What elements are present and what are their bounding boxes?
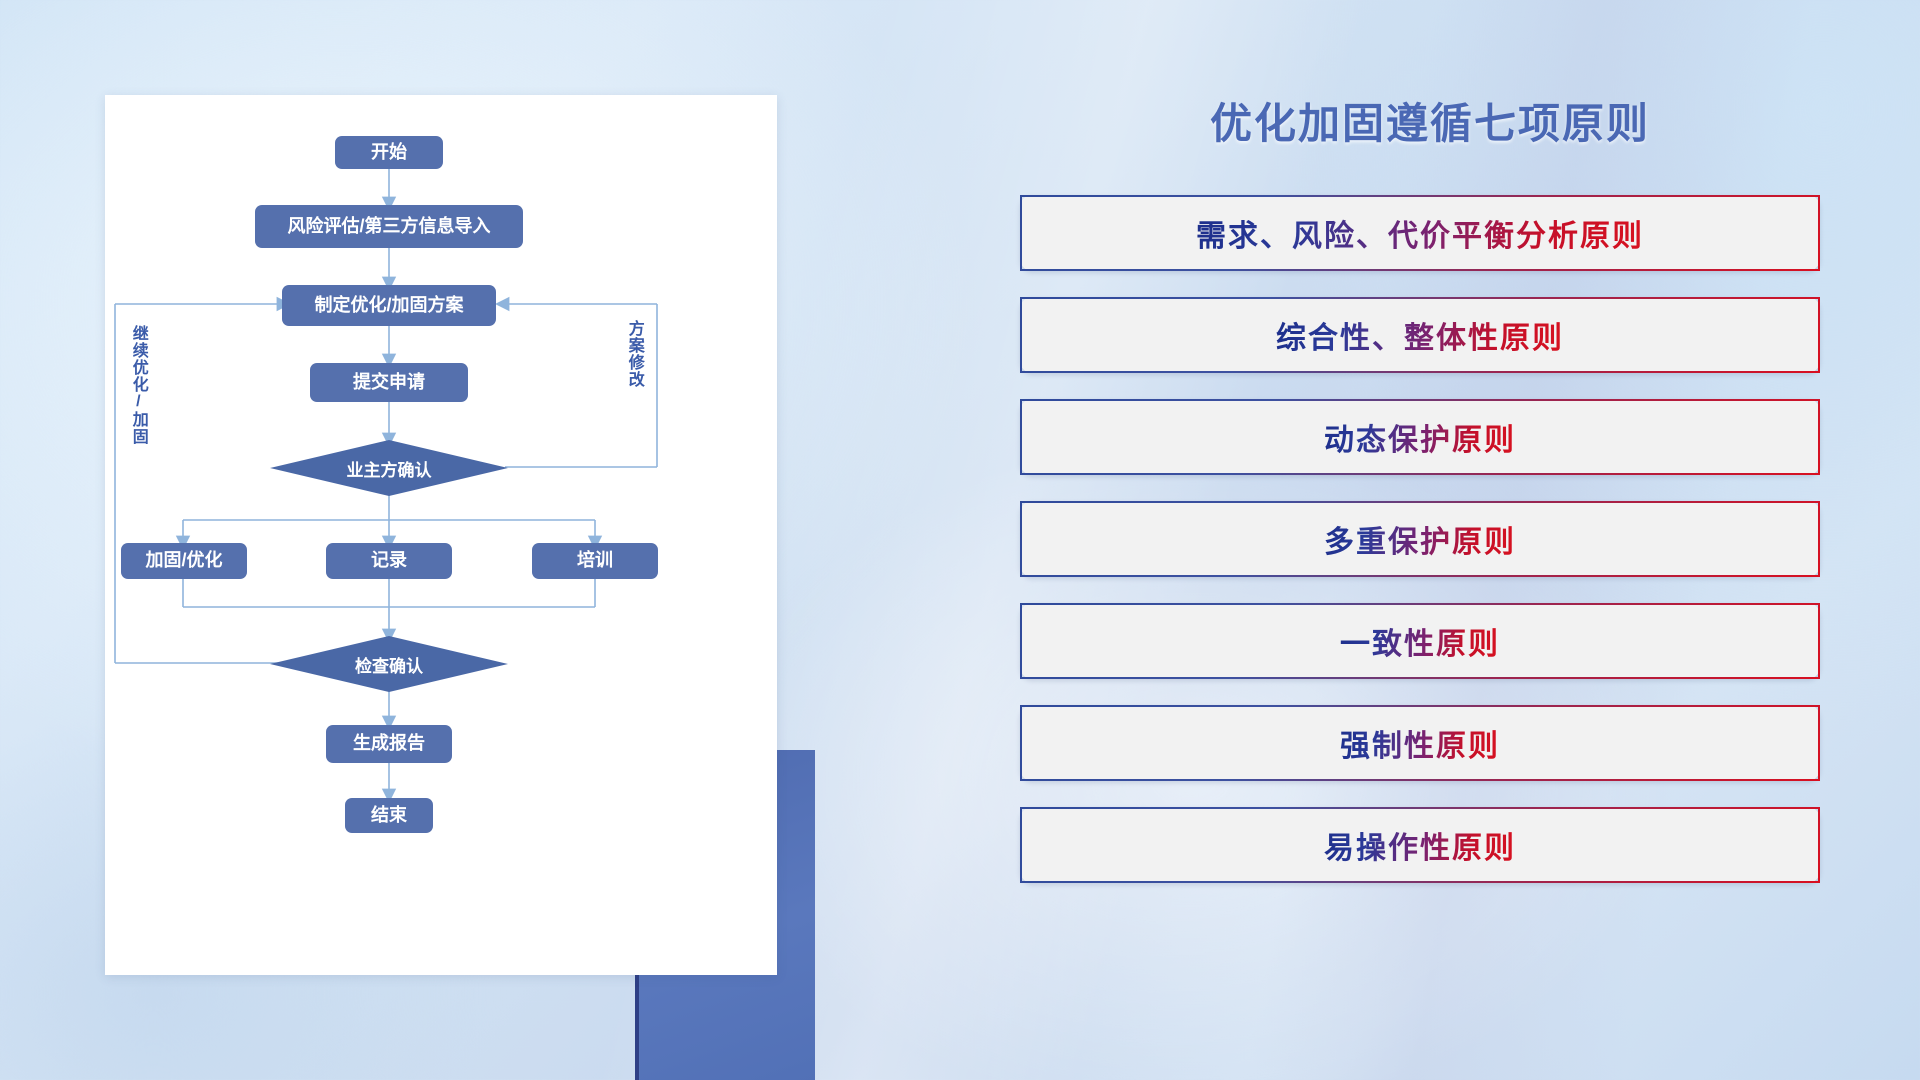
principles-panel: 优化加固遵循七项原则 需求、风险、代价平衡分析原则 综合性、整体性原则 动态保护…	[1020, 90, 1840, 1030]
edge-label-left-loop: 继续优化/加固	[129, 325, 146, 445]
principle-list: 需求、风险、代价平衡分析原则 综合性、整体性原则 动态保护原则 多重保护原则 一…	[1020, 195, 1820, 909]
flow-node-submit-application[interactable]: 提交申请	[310, 363, 468, 402]
principle-card[interactable]: 动态保护原则	[1020, 399, 1820, 475]
principle-card[interactable]: 易操作性原则	[1020, 807, 1820, 883]
principle-card[interactable]: 强制性原则	[1020, 705, 1820, 781]
flow-node-check-confirm-label: 检查确认	[355, 652, 423, 677]
principle-label: 综合性、整体性原则	[1276, 313, 1564, 357]
principle-label: 动态保护原则	[1324, 415, 1516, 459]
flowchart-card: 继续优化/加固 方案修改 开始 风险评估/第三方信息导入 制定优化/加固方案 提…	[105, 95, 777, 975]
page-title: 优化加固遵循七项原则	[1020, 90, 1840, 151]
principle-label: 一致性原则	[1340, 619, 1500, 663]
flow-node-owner-confirm[interactable]: 业主方确认	[270, 440, 508, 496]
flowchart-panel: 继续优化/加固 方案修改 开始 风险评估/第三方信息导入 制定优化/加固方案 提…	[105, 95, 785, 970]
flow-node-make-plan[interactable]: 制定优化/加固方案	[282, 285, 496, 326]
flow-node-training[interactable]: 培训	[532, 543, 658, 579]
principle-card[interactable]: 综合性、整体性原则	[1020, 297, 1820, 373]
flow-node-check-confirm[interactable]: 检查确认	[270, 636, 508, 692]
flow-node-start[interactable]: 开始	[335, 136, 443, 169]
principle-label: 强制性原则	[1340, 721, 1500, 765]
principle-card[interactable]: 需求、风险、代价平衡分析原则	[1020, 195, 1820, 271]
principle-label: 需求、风险、代价平衡分析原则	[1196, 211, 1644, 255]
principle-label: 多重保护原则	[1324, 517, 1516, 561]
edge-label-right-loop: 方案修改	[625, 320, 642, 388]
principle-card[interactable]: 一致性原则	[1020, 603, 1820, 679]
flow-node-end[interactable]: 结束	[345, 798, 433, 833]
flow-node-risk-assessment[interactable]: 风险评估/第三方信息导入	[255, 205, 523, 248]
flow-node-owner-confirm-label: 业主方确认	[347, 456, 432, 481]
flow-node-generate-report[interactable]: 生成报告	[326, 725, 452, 763]
flow-node-reinforce-optimize[interactable]: 加固/优化	[121, 543, 247, 579]
flow-node-record[interactable]: 记录	[326, 543, 452, 579]
principle-card[interactable]: 多重保护原则	[1020, 501, 1820, 577]
principle-label: 易操作性原则	[1324, 823, 1516, 867]
